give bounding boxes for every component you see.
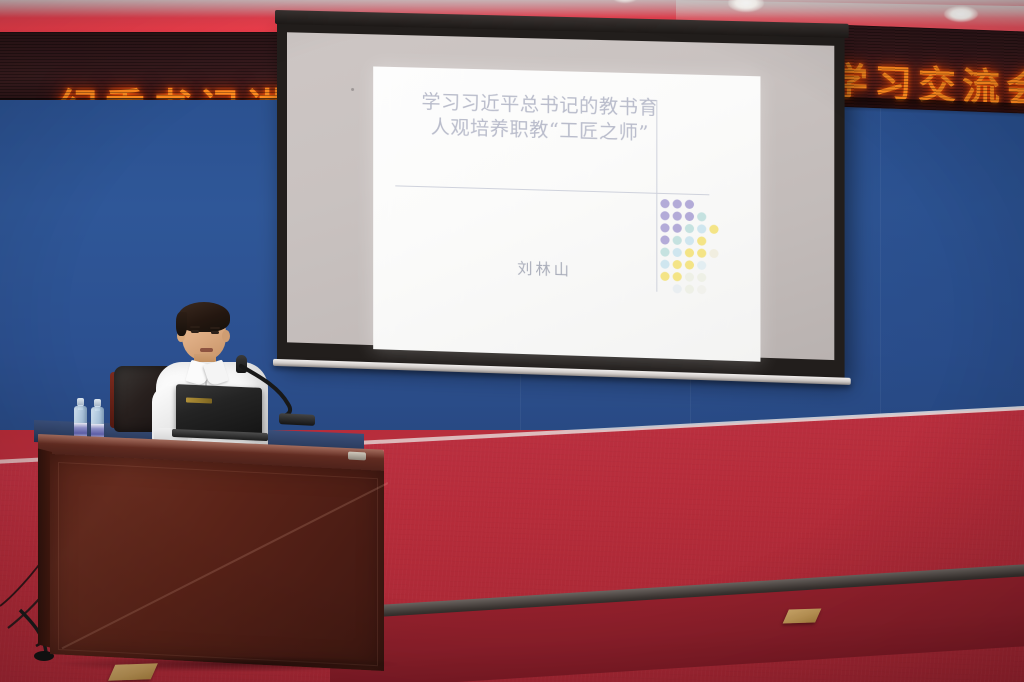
slide-dot — [697, 249, 706, 258]
slide-dot — [685, 200, 694, 209]
microphone-base — [279, 413, 315, 426]
slide-dot — [660, 199, 669, 208]
speaker-eye-left — [191, 330, 199, 333]
slide-dot — [660, 223, 669, 232]
slide-dot — [673, 236, 682, 245]
speaker-mouth — [200, 348, 213, 352]
slide-dot — [673, 272, 682, 281]
slide-dot — [660, 260, 669, 269]
slide-dot — [673, 284, 682, 293]
ceiling-downlight-2-icon — [944, 6, 978, 22]
slide-dot — [685, 224, 694, 233]
speaker-brow-left — [190, 326, 200, 328]
slide-dot — [673, 224, 682, 233]
slide-dot — [673, 211, 682, 220]
slide-dot — [697, 224, 706, 233]
speaker-brow-right — [210, 327, 220, 329]
slide-dot — [697, 236, 706, 245]
podium-latch — [348, 452, 366, 461]
slide-horizontal-rule — [395, 185, 709, 195]
projected-slide: 学习习近平总书记的教书育 人观培养职教“工匠之师” 刘林山 — [373, 66, 760, 361]
slide-dot — [660, 211, 669, 220]
slide-dot — [685, 260, 694, 269]
slide-dot — [685, 212, 694, 221]
slide-decorative-dot-grid — [660, 199, 742, 298]
speaker-ear-right — [222, 330, 230, 342]
slide-dot — [673, 199, 682, 208]
slide-author-name: 刘林山 — [434, 255, 657, 283]
podium-ground-shadow — [58, 656, 398, 672]
screen-surface: 学习习近平总书记的教书育 人观培养职教“工匠之师” 刘林山 — [287, 32, 834, 360]
wooden-podium — [38, 434, 388, 666]
slide-title: 学习习近平总书记的教书育 人观培养职教“工匠之师” — [395, 89, 685, 147]
presentation-hall-photo: 纪委书记讲 学习交流会 学习习近平总书记的教书育 人观培养职教“工匠之师” 刘林… — [0, 0, 1024, 682]
slide-dot — [697, 273, 706, 282]
podium-diagonal-highlight — [54, 458, 388, 671]
slide-dot — [709, 225, 718, 234]
projection-screen: 学习习近平总书记的教书育 人观培养职教“工匠之师” 刘林山 — [277, 22, 845, 379]
slide-vertical-rule — [656, 100, 657, 292]
laptop-lid — [176, 384, 262, 436]
slide-dot — [709, 249, 718, 258]
slide-dot — [697, 285, 706, 294]
slide-dot — [697, 261, 706, 270]
slide-dot — [673, 260, 682, 269]
wall-seam-3 — [880, 100, 881, 455]
slide-dot — [685, 285, 694, 294]
slide-dot — [660, 235, 669, 244]
laptop-brand-logo — [186, 397, 212, 403]
slide-dot — [685, 236, 694, 245]
slide-dot — [685, 248, 694, 257]
cable-cover-block-left — [108, 663, 158, 680]
speaker-eye-right — [211, 331, 219, 334]
cable-cover-block-right — [783, 608, 822, 623]
slide-dot — [660, 247, 669, 256]
slide-dot — [673, 248, 682, 257]
screen-blemish — [351, 88, 354, 91]
slide-dot — [685, 272, 694, 281]
slide-dot — [697, 212, 706, 221]
slide-dot — [660, 272, 669, 281]
speaker-sideburn — [176, 312, 187, 336]
